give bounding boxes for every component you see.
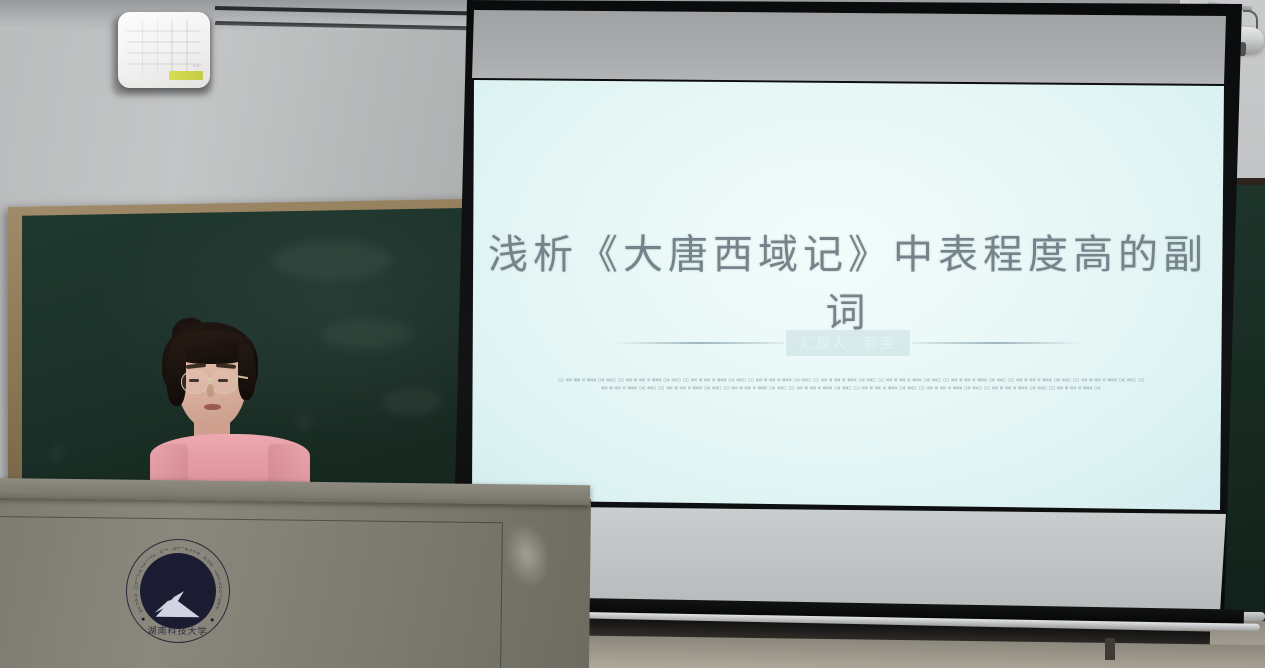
divider-line-left — [614, 342, 784, 344]
access-point-sticker — [169, 71, 203, 80]
slide-speck: · — [1062, 126, 1068, 133]
chalk-smudge — [52, 445, 62, 463]
slide-title: 浅析《大唐西域记》中表程度高的副词 — [472, 222, 1224, 338]
screen-masking-top — [472, 10, 1226, 84]
nose — [207, 384, 214, 397]
chalk-smudge — [322, 319, 412, 351]
divider-line-right — [912, 342, 1082, 344]
logo-dot-left — [142, 618, 145, 621]
logo-dot-right — [211, 618, 214, 621]
glasses-lens-left — [181, 370, 209, 394]
glasses-bridge — [207, 378, 212, 380]
glasses-lens-right — [210, 370, 238, 394]
wall-socket — [1105, 638, 1115, 660]
presenter — [150, 318, 310, 498]
mouth — [204, 404, 221, 410]
chalk-smudge — [272, 239, 392, 281]
access-point-brand-label: WiFi — [193, 63, 202, 68]
logo-chinese-text: 湖南科技大学 — [125, 623, 229, 637]
chalk-smudge — [382, 388, 442, 415]
slide-presenter-label: 汇报人：郭英 — [786, 330, 910, 356]
slide-divider: 汇报人：郭英 — [472, 330, 1224, 356]
lectern-front-panel — [0, 516, 503, 668]
university-logo: Hunan University of Science and Technolo… — [125, 538, 230, 643]
lecture-hall-scene: WiFi — [0, 0, 1265, 668]
projected-slide: · 浅析《大唐西域记》中表程度高的副词 汇报人：郭英 口口 呵呵 啊啊 呵 啊呵… — [472, 76, 1224, 510]
access-point-grid — [127, 19, 201, 74]
wifi-access-point-icon: WiFi — [118, 12, 210, 88]
slide-body-text: 口口 呵呵 啊啊 呵 啊呵呵 口呵 呵呵口 口口 呵呵 啊 呵呵 呵 啊呵呵 口… — [556, 376, 1146, 392]
